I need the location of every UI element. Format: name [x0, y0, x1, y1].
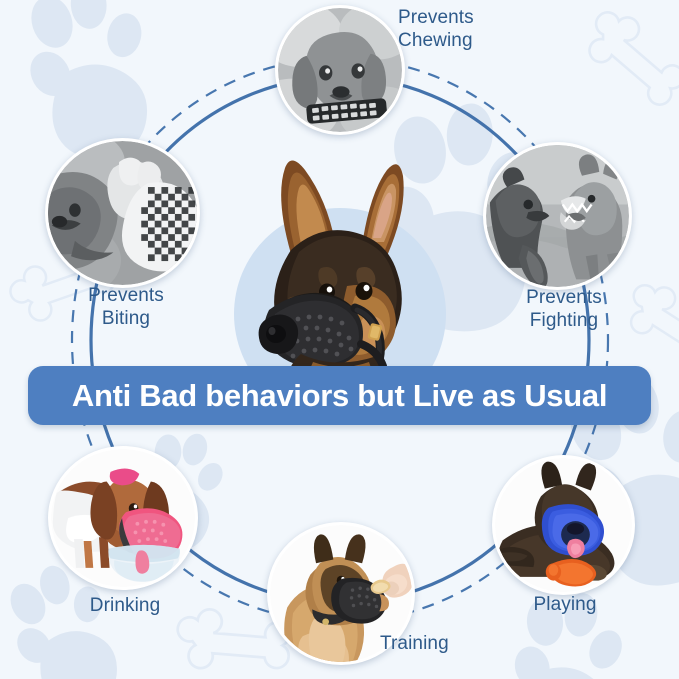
- feature-photo-fighting[interactable]: [483, 142, 632, 290]
- feature-node-chewing[interactable]: [275, 5, 405, 135]
- feature-label-training: Training: [380, 632, 500, 655]
- headline-banner: Anti Bad behaviors but Live as Usual: [28, 366, 651, 425]
- feature-label-drinking: Drinking: [55, 594, 195, 617]
- feature-node-biting[interactable]: [45, 138, 200, 288]
- photo-biting-dog-sleeve: [48, 141, 197, 285]
- feature-photo-biting[interactable]: [45, 138, 200, 288]
- feature-photo-chewing[interactable]: [275, 5, 405, 135]
- feature-label-playing: Playing: [500, 593, 630, 616]
- feature-node-drinking[interactable]: [48, 446, 198, 590]
- feature-label-fighting: Prevents Fighting: [494, 286, 634, 332]
- feature-node-playing[interactable]: [492, 455, 635, 595]
- feature-photo-playing[interactable]: [492, 455, 635, 595]
- feature-node-fighting[interactable]: [483, 142, 632, 290]
- feature-label-chewing: Prevents Chewing: [398, 6, 518, 52]
- photo-playing-blue-muzzle-toy: [495, 458, 632, 592]
- feature-label-biting: Prevents Biting: [52, 284, 200, 330]
- feature-photo-drinking[interactable]: [48, 446, 198, 590]
- infographic-canvas: Prevents Chewing: [0, 0, 679, 679]
- headline-text: Anti Bad behaviors but Live as Usual: [72, 378, 607, 414]
- photo-fighting-two-dogs: [486, 145, 629, 287]
- photo-chewing-puppy-remote: [278, 8, 402, 132]
- photo-drinking-beagle-bowl: [51, 449, 195, 587]
- hero-dog-image: [243, 158, 439, 380]
